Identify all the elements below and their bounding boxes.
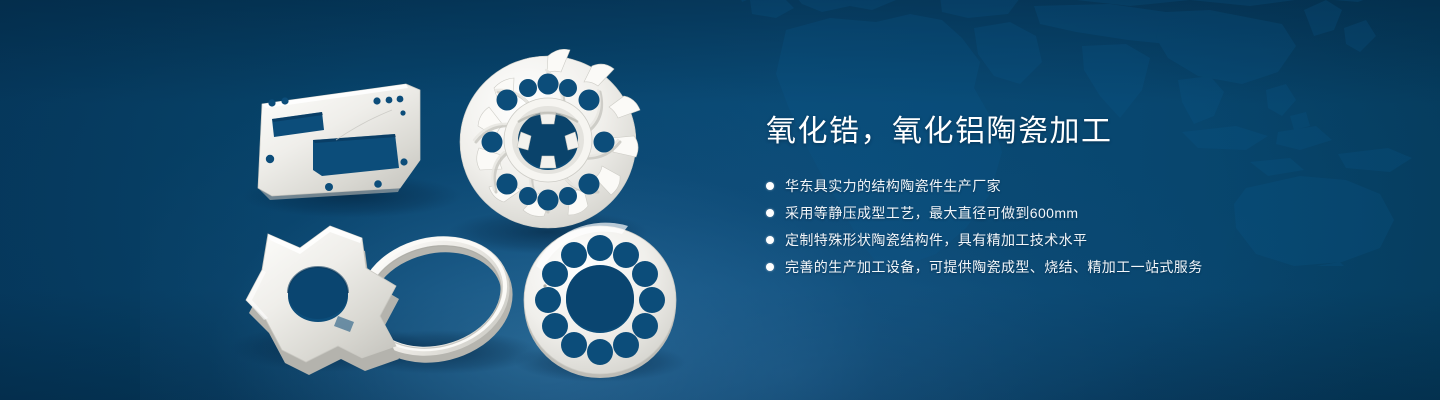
list-item-label: 定制特殊形状陶瓷结构件，具有精加工技术水平 <box>785 230 1087 250</box>
banner-feature-list: 华东具实力的结构陶瓷件生产厂家 采用等静压成型工艺，最大直径可做到600mm 定… <box>766 176 1386 277</box>
ceramic-plate-shape <box>258 84 420 200</box>
list-item: 华东具实力的结构陶瓷件生产厂家 <box>766 176 1386 196</box>
bullet-dot-icon <box>766 236 774 244</box>
ceramic-products-photo <box>0 0 760 400</box>
list-item-label: 采用等静压成型工艺，最大直径可做到600mm <box>785 203 1078 223</box>
promo-banner: 氧化锆，氧化铝陶瓷加工 华东具实力的结构陶瓷件生产厂家 采用等静压成型工艺，最大… <box>0 0 1440 400</box>
list-item-label: 华东具实力的结构陶瓷件生产厂家 <box>785 176 1001 196</box>
banner-copy: 氧化锆，氧化铝陶瓷加工 华东具实力的结构陶瓷件生产厂家 采用等静压成型工艺，最大… <box>766 112 1386 284</box>
list-item: 完善的生产加工设备，可提供陶瓷成型、烧结、精加工一站式服务 <box>766 257 1386 277</box>
list-item-label: 完善的生产加工设备，可提供陶瓷成型、烧结、精加工一站式服务 <box>785 257 1203 277</box>
list-item: 定制特殊形状陶瓷结构件，具有精加工技术水平 <box>766 230 1386 250</box>
bullet-dot-icon <box>766 209 774 217</box>
ceramic-impeller-shape <box>460 49 640 228</box>
list-item: 采用等静压成型工艺，最大直径可做到600mm <box>766 203 1386 223</box>
bullet-dot-icon <box>766 182 774 190</box>
banner-headline: 氧化锆，氧化铝陶瓷加工 <box>766 112 1386 152</box>
bullet-dot-icon <box>766 263 774 271</box>
